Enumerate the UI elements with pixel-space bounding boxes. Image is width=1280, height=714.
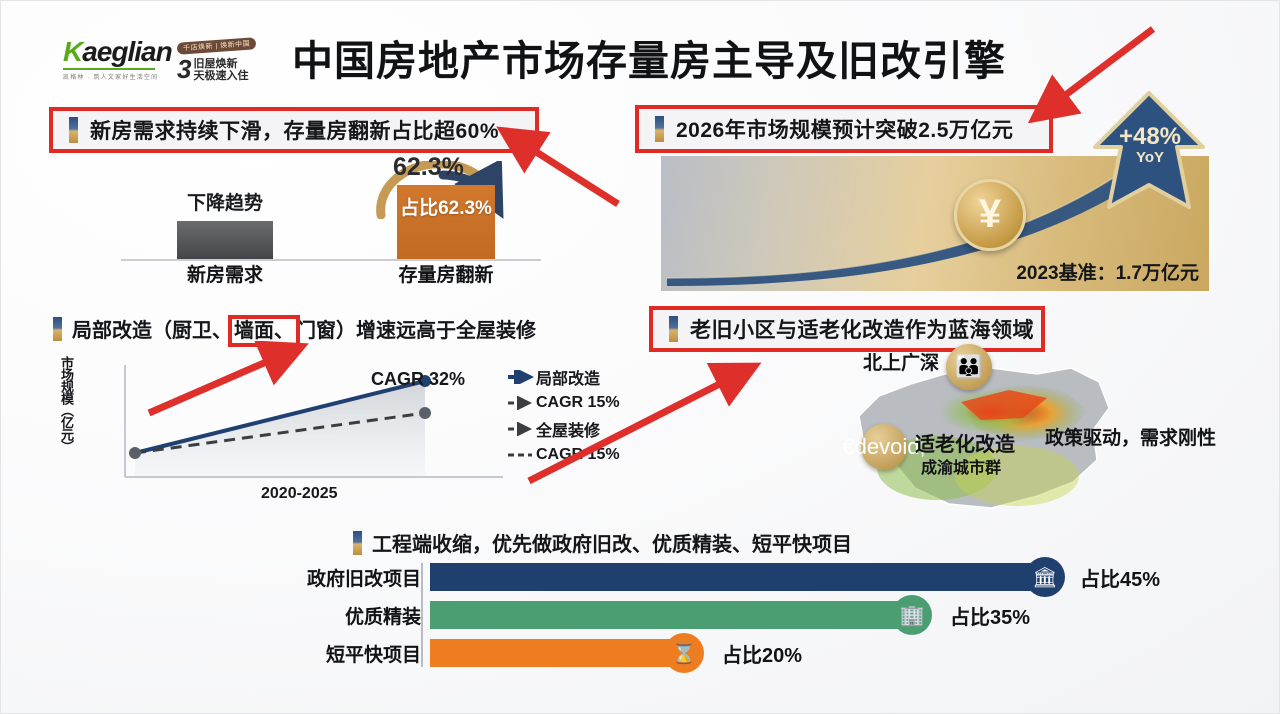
bar-stock-renovation: 占比62.3% (397, 185, 495, 259)
map-label-aging-renovation: 适老化改造 (915, 428, 1015, 457)
callout-text: 老旧小区与适老化改造作为蓝海领域 (690, 314, 1034, 344)
bar-fill (430, 563, 1045, 591)
accent-tick (69, 117, 78, 143)
callout-blue-ocean: 老旧小区与适老化改造作为蓝海领域 (649, 306, 1045, 352)
accent-tick (353, 531, 362, 555)
brand-wordmark: Kaeglian (63, 37, 173, 67)
policy-note: 政策驱动，需求刚性 (1045, 423, 1216, 450)
bar-value: 占比45% (1080, 563, 1160, 592)
promo-pill: 千店焕新 | 焕新中国 (177, 37, 257, 54)
heading-part-2: 门窗）增速远高于全屋装修 (296, 320, 536, 342)
chart-new-home-vs-renovation: 62.3% 下降趋势 占比62.3% 新房需求 存量房翻新 (121, 169, 541, 289)
y-axis-label: 市场规模（亿元） (56, 356, 76, 452)
callout-market-scale: 2026年市场规模预计突破2.5万亿元 (635, 105, 1053, 153)
brand-rest: aeglian (82, 36, 171, 67)
family-icon: 👪 (946, 344, 992, 390)
yoy-value: +48% (1097, 93, 1203, 149)
bar-value: 占比20% (722, 639, 802, 668)
bar-row-gov: 政府旧改项目 🏛 占比45% (286, 563, 1160, 591)
heading-part-1: 局部改造（厨卫、 (72, 320, 232, 342)
promo-number: 3 (177, 56, 191, 82)
hourglass-icon: ⌛ (664, 633, 704, 673)
map-label-chengyu: 成渝城市群 (921, 454, 1001, 478)
bar-fill (430, 639, 684, 667)
bar-gray-label: 下降趋势 (165, 188, 285, 215)
office-building-icon: 🏢 (892, 595, 932, 635)
accent-tick (655, 116, 664, 142)
chart-project-mix: 政府旧改项目 🏛 占比45% 优质精装 🏢 占比35% 短平快项目 ⌛ 占比20… (286, 563, 1006, 673)
page-title: 中国房地产市场存量房主导及旧改引擎 (279, 27, 1019, 87)
annotation-arrow-4 (521, 361, 771, 491)
brand-logo: Kaeglian 凯格林 · 筑人文家好生活空间 (63, 37, 173, 81)
accent-tick (669, 316, 678, 342)
x-axis-label: 2020-2025 (261, 485, 338, 503)
yoy-label-group: +48% YoY (1097, 93, 1203, 211)
section-project-priority: 工程端收缩，优先做政府旧改、优质精装、短平快项目 (353, 528, 852, 557)
yoy-unit: YoY (1097, 149, 1203, 166)
bar-row-decor: 优质精装 🏢 占比35% (286, 601, 1030, 629)
bar-fill (430, 601, 912, 629)
infographic-slide: Kaeglian 凯格林 · 筑人文家好生活空间 千店焕新 | 焕新中国 3 旧… (0, 0, 1280, 714)
bar-orange-label: 占比62.3% (397, 185, 495, 220)
bar-label: 政府旧改项目 (286, 564, 430, 591)
baseline-note: 2023基准：1.7万亿元 (1016, 258, 1199, 285)
arc-value-label: 62.3% (393, 153, 464, 182)
yen-coin-icon: ¥ (954, 179, 1026, 251)
callout-text: 2026年市场规模预计突破2.5万亿元 (676, 114, 1013, 144)
section-partial-renovation: 局部改造（厨卫、墙面、门窗）增速远高于全屋装修 (53, 314, 536, 343)
bar-row-fast: 短平快项目 ⌛ 占比20% (286, 639, 802, 667)
x-label-new-home: 新房需求 (163, 260, 287, 287)
callout-text: 新房需求持续下滑，存量房翻新占比超60% (90, 115, 499, 145)
x-label-renovation: 存量房翻新 (379, 260, 513, 287)
bar-value: 占比35% (950, 601, 1030, 630)
brand-underline (63, 68, 155, 70)
cagr-annotation: CAGR 32% (371, 369, 465, 390)
map-label-tier1-cities: 北上广深 (863, 348, 939, 375)
bar-label: 优质精装 (286, 602, 430, 629)
callout-new-home-demand: 新房需求持续下滑，存量房翻新占比超60% (49, 107, 539, 153)
bar-new-home-demand (177, 221, 273, 259)
elderly-icon: €devoid; (861, 424, 907, 470)
highlight-wall: 墙面、 (232, 319, 296, 343)
section-text: 工程端收缩，优先做政府旧改、优质精装、短平快项目 (372, 528, 852, 557)
accent-tick (53, 317, 62, 341)
brand-initial: K (63, 36, 82, 67)
bar-label: 短平快项目 (286, 640, 430, 667)
brand-tagline: 凯格林 · 筑人文家好生活空间 (63, 72, 173, 81)
government-building-icon: 🏛 (1025, 557, 1065, 597)
promo-badge: 千店焕新 | 焕新中国 3 旧屋焕新 天极速入住 (177, 35, 269, 83)
